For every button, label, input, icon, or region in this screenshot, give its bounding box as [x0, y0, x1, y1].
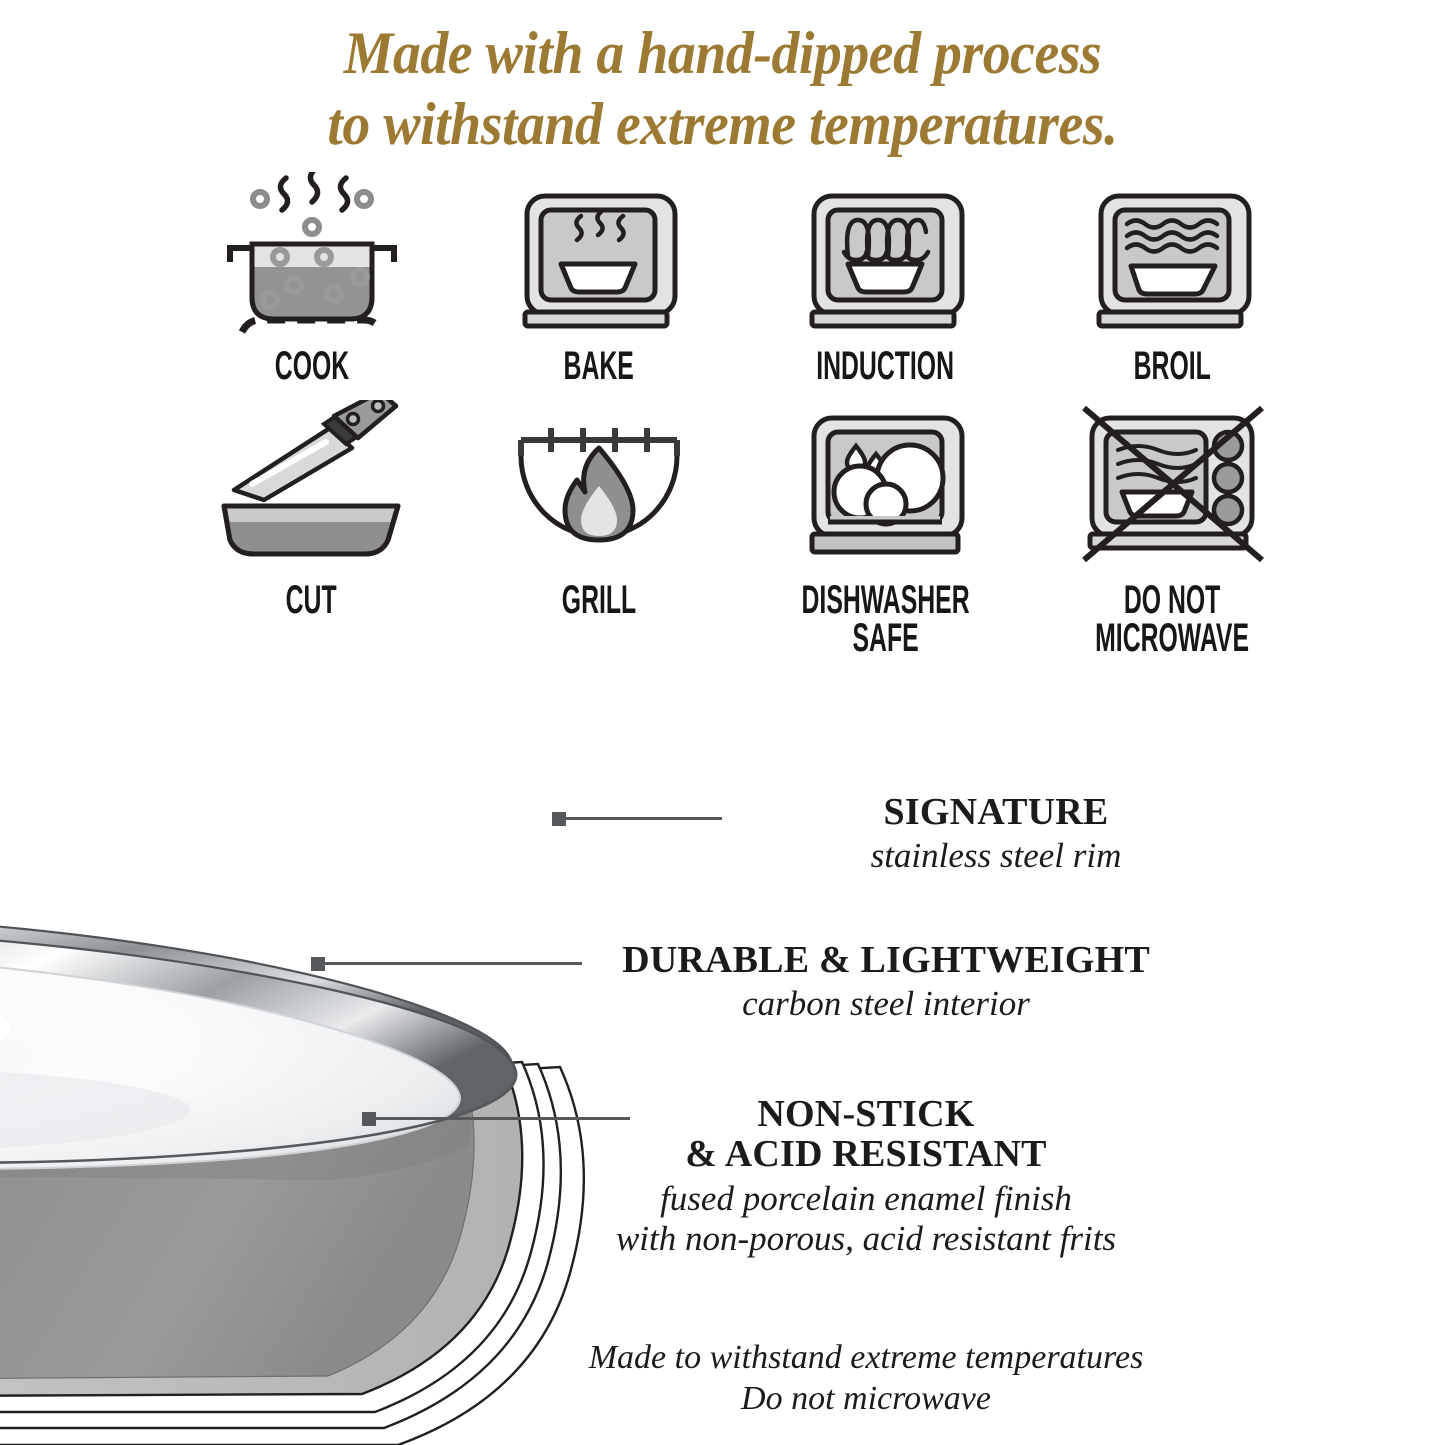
footnote: Made to withstand extreme temperatures D…	[466, 1338, 1266, 1420]
icon-cell-induction: INDUCTION	[742, 172, 1029, 400]
icon-label-broil: BROIL	[1134, 348, 1211, 386]
bake-icon	[499, 172, 699, 342]
callout-subtitle-nonstick: fused porcelain enamel finish with non-p…	[466, 1179, 1266, 1260]
page-title: Made with a hand-dipped process to withs…	[51, 18, 1395, 160]
icon-label-do-not-microwave: DO NOT MICROWAVE	[1096, 582, 1250, 657]
icon-label-induction: INDUCTION	[817, 348, 955, 386]
icon-cell-dishwasher-safe: DISHWASHER SAFE	[742, 400, 1029, 650]
grill-icon	[499, 400, 699, 576]
callout-signature: SIGNATURE stainless steel rim	[596, 792, 1396, 877]
callout-subtitle-durable: carbon steel interior	[486, 984, 1286, 1025]
do-not-microwave-icon	[1068, 400, 1278, 576]
icon-cell-broil: BROIL	[1029, 172, 1316, 400]
icon-cell-bake: BAKE	[455, 172, 742, 400]
cook-icon	[212, 172, 412, 342]
infographic-root: Made with a hand-dipped process to withs…	[0, 0, 1445, 1445]
broil-icon	[1073, 172, 1273, 342]
callout-title-nonstick-line1: NON-STICK	[466, 1094, 1266, 1134]
headline-line-1: Made with a hand-dipped process	[344, 20, 1102, 86]
pot-illustration	[0, 612, 650, 1445]
callout-durable: DURABLE & LIGHTWEIGHT carbon steel inter…	[486, 940, 1286, 1025]
callout-title-durable: DURABLE & LIGHTWEIGHT	[486, 940, 1286, 980]
callout-nonstick: NON-STICK & ACID RESISTANT fused porcela…	[466, 1094, 1266, 1260]
icon-row-1: COOK BA	[168, 172, 1318, 400]
icon-label-cook: COOK	[274, 348, 348, 386]
callout-title-signature: SIGNATURE	[596, 792, 1396, 832]
headline-line-2: to withstand extreme temperatures.	[51, 89, 1395, 160]
induction-icon	[786, 172, 986, 342]
dishwasher-safe-icon	[786, 400, 986, 576]
callout-title-nonstick-line2: & ACID RESISTANT	[466, 1134, 1266, 1174]
cut-icon	[212, 400, 412, 576]
icon-cell-do-not-microwave: DO NOT MICROWAVE	[1029, 400, 1316, 650]
icon-label-dishwasher-safe: DISHWASHER SAFE	[801, 582, 969, 657]
callout-subtitle-signature: stainless steel rim	[596, 836, 1396, 877]
icon-label-bake: BAKE	[563, 348, 633, 386]
icon-cell-cook: COOK	[168, 172, 455, 400]
feature-icon-grid: COOK BA	[168, 172, 1318, 650]
